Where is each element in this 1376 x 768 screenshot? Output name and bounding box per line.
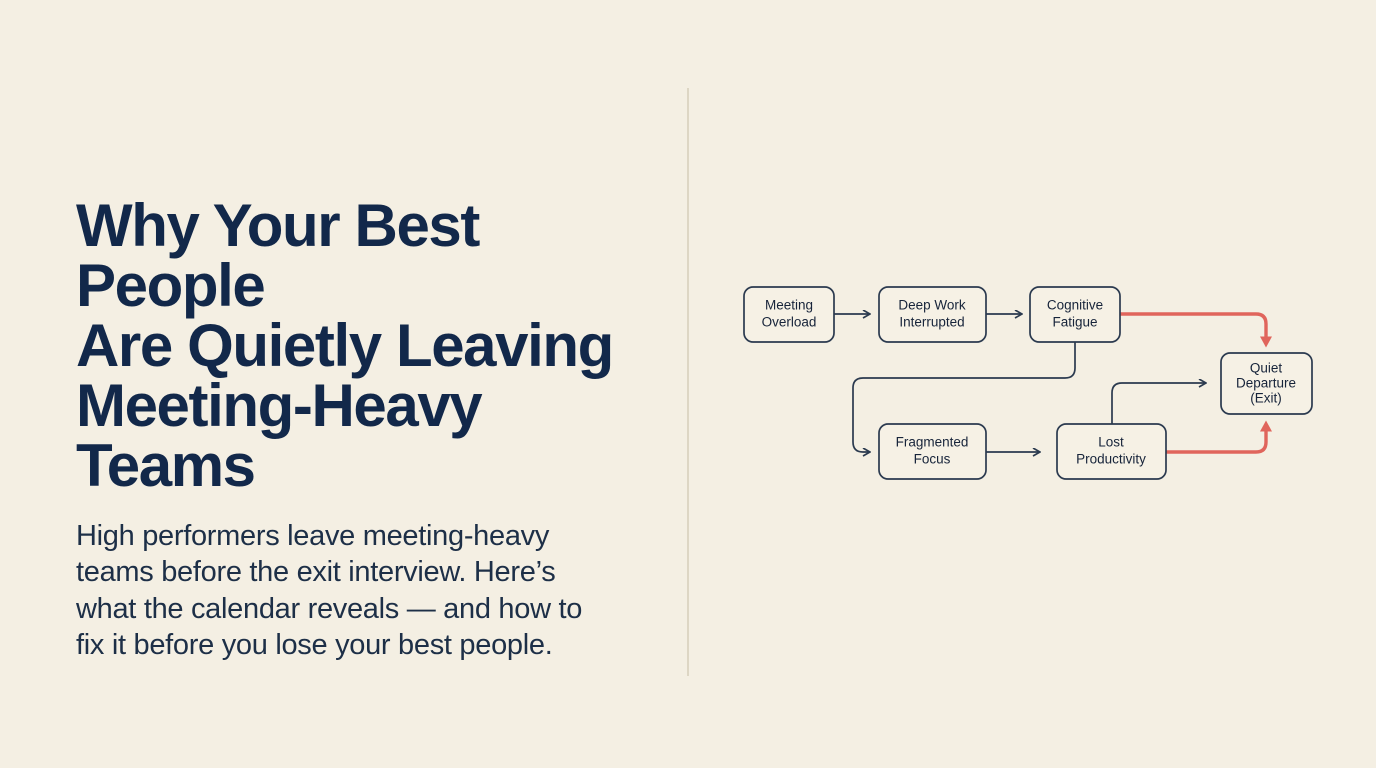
- node-lost-productivity-line1: Lost: [1098, 435, 1124, 450]
- edge-lost-productivity-to-quiet-departure: [1112, 383, 1206, 424]
- slide-canvas: Why Your Best People Are Quietly Leaving…: [0, 0, 1376, 768]
- node-meeting-overload-line2: Overload: [762, 315, 817, 330]
- edge-lost-productivity-to-quiet-departure-highlight: [1166, 426, 1266, 452]
- page-title: Why Your Best People Are Quietly Leaving…: [76, 196, 656, 496]
- node-quiet-departure[interactable]: Quiet Departure (Exit): [1221, 353, 1312, 414]
- node-deep-work-interrupted-line1: Deep Work: [898, 298, 966, 313]
- node-fragmented-focus-line1: Fragmented: [896, 435, 969, 450]
- node-meeting-overload[interactable]: Meeting Overload: [744, 287, 834, 342]
- text-panel: Why Your Best People Are Quietly Leaving…: [76, 196, 656, 663]
- node-deep-work-interrupted[interactable]: Deep Work Interrupted: [879, 287, 986, 342]
- node-fragmented-focus-line2: Focus: [914, 452, 951, 467]
- edge-cognitive-fatigue-to-quiet-departure-highlight: [1112, 314, 1266, 342]
- node-lost-productivity-line2: Productivity: [1076, 452, 1146, 467]
- flowchart-diagram: Meeting Overload Deep Work Interrupted C…: [700, 250, 1360, 530]
- node-lost-productivity[interactable]: Lost Productivity: [1057, 424, 1166, 479]
- node-cognitive-fatigue[interactable]: Cognitive Fatigue: [1030, 287, 1120, 342]
- node-quiet-departure-line1: Quiet: [1250, 361, 1283, 376]
- vertical-divider: [687, 88, 689, 676]
- node-quiet-departure-line3: (Exit): [1250, 391, 1282, 406]
- page-subtitle: High performers leave meeting-heavy team…: [76, 518, 656, 663]
- node-cognitive-fatigue-line2: Fatigue: [1052, 315, 1097, 330]
- node-cognitive-fatigue-line1: Cognitive: [1047, 298, 1103, 313]
- node-deep-work-interrupted-line2: Interrupted: [899, 315, 964, 330]
- node-quiet-departure-line2: Departure: [1236, 376, 1296, 391]
- node-fragmented-focus[interactable]: Fragmented Focus: [879, 424, 986, 479]
- node-meeting-overload-line1: Meeting: [765, 298, 813, 313]
